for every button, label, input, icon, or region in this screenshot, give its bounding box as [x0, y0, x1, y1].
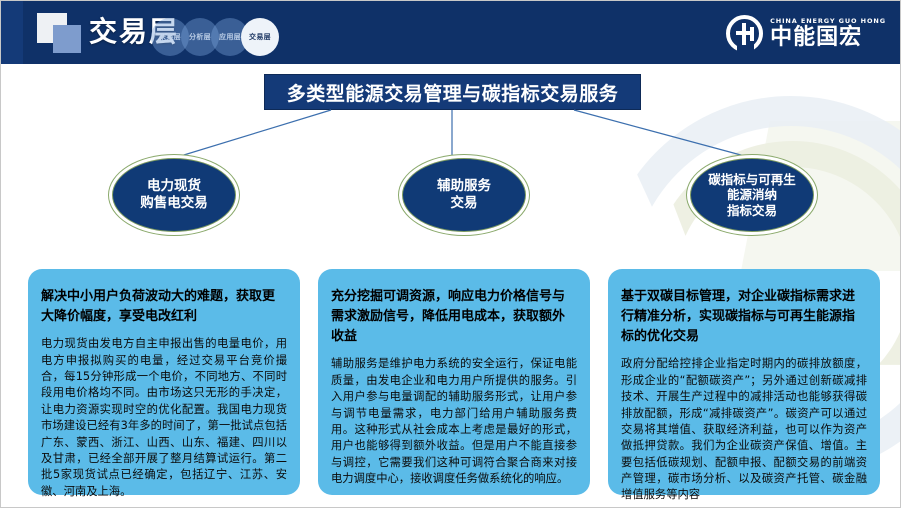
card-3-heading: 基于双碳目标管理，对企业碳指标需求进行精准分析，实现碳指标与可再生能源指标的优化… [621, 287, 867, 347]
node-carbon-index-trading[interactable]: 碳指标与可再生 能源消纳 指标交易 [690, 158, 814, 232]
node-3-line-2: 能源消纳 [708, 187, 796, 203]
card-1-body: 电力现货由发电方自主申报出售的电量电价，用电方申报拟购买的电量，经过交易平台竞价… [41, 336, 287, 500]
node-3-line-3: 指标交易 [708, 203, 796, 219]
card-1-heading: 解决中小用户负荷波动大的难题，获取更大降价幅度，享受电改红利 [41, 287, 287, 327]
card-2-heading: 充分挖掘可调资源，响应电力价格信号与需求激励信号，降低用电成本，获取额外收益 [331, 287, 577, 347]
slide-canvas: 交易层 采集层 分析层 应用层 交易层 CHINA ENERGY GUO HON… [0, 0, 901, 508]
card-carbon-index-trading: 基于双碳目标管理，对企业碳指标需求进行精准分析，实现碳指标与可再生能源指标的优化… [608, 269, 880, 495]
node-1-line-1: 电力现货 [140, 178, 208, 195]
node-power-spot-trading[interactable]: 电力现货 购售电交易 [112, 158, 236, 232]
card-2-body: 辅助服务是维护电力系统的安全运行，保证电能质量，由发电企业和电力用户所提供的服务… [331, 356, 577, 487]
node-ancillary-service-trading[interactable]: 辅助服务 交易 [402, 158, 526, 232]
card-ancillary-service-trading: 充分挖掘可调资源，响应电力价格信号与需求激励信号，降低用电成本，获取额外收益 辅… [318, 269, 590, 495]
card-3-body: 政府分配给控排企业指定时期内的碳排放额度，形成企业的“配额碳资产”；另外通过创新… [621, 356, 867, 503]
node-2-line-1: 辅助服务 [437, 178, 491, 195]
card-power-spot-trading: 解决中小用户负荷波动大的难题，获取更大降价幅度，享受电改红利 电力现货由发电方自… [28, 269, 300, 495]
node-1-line-2: 购售电交易 [140, 195, 208, 212]
node-3-line-1: 碳指标与可再生 [708, 172, 796, 188]
node-2-line-2: 交易 [437, 195, 491, 212]
